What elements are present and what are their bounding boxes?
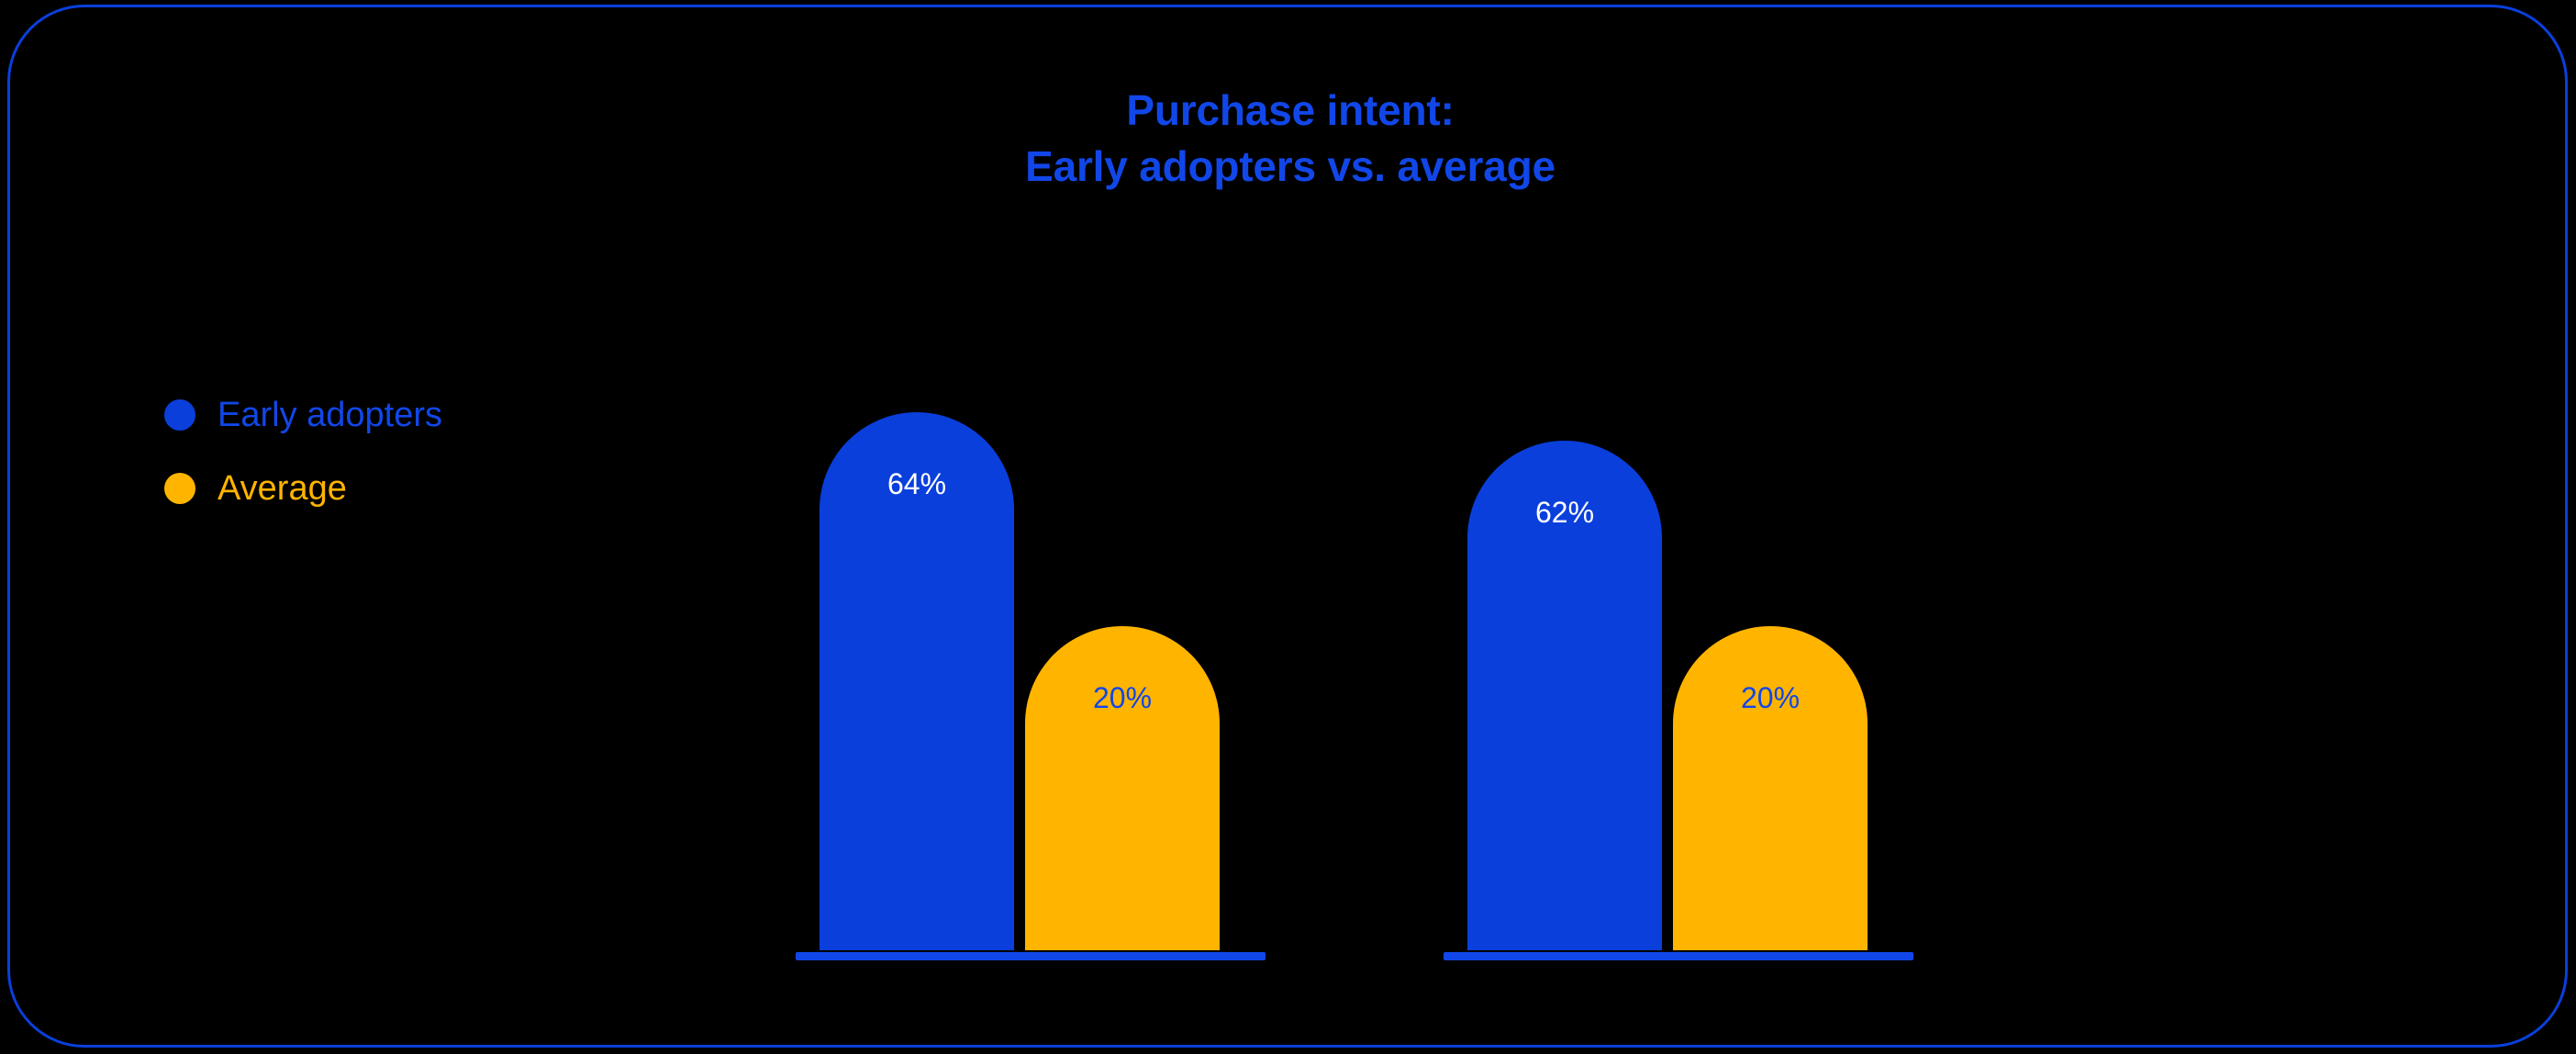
bar-value-average-1: 20%: [1673, 683, 1868, 712]
bar-value-early-adopters-0: 64%: [820, 469, 1014, 499]
bar-group-1: 62% 20%: [1444, 234, 1913, 950]
group-baseline-1: [1444, 952, 1913, 960]
bar-group-0: 64% 20%: [796, 234, 1266, 950]
group-baseline-0: [796, 952, 1266, 960]
bar-average-0[interactable]: 20%: [1025, 626, 1220, 950]
plot-area: 64% 20% 62% 20%: [10, 7, 2568, 1048]
bar-early-adopters-0[interactable]: 64%: [820, 412, 1014, 950]
bar-shape-average-1: [1673, 626, 1868, 950]
chart-card: Purchase intent: Early adopters vs. aver…: [7, 5, 2568, 1048]
bar-early-adopters-1[interactable]: 62%: [1467, 441, 1662, 950]
bar-shape-average-0: [1025, 626, 1220, 950]
bar-value-early-adopters-1: 62%: [1467, 498, 1662, 527]
bar-average-1[interactable]: 20%: [1673, 626, 1868, 950]
bar-value-average-0: 20%: [1025, 683, 1220, 712]
